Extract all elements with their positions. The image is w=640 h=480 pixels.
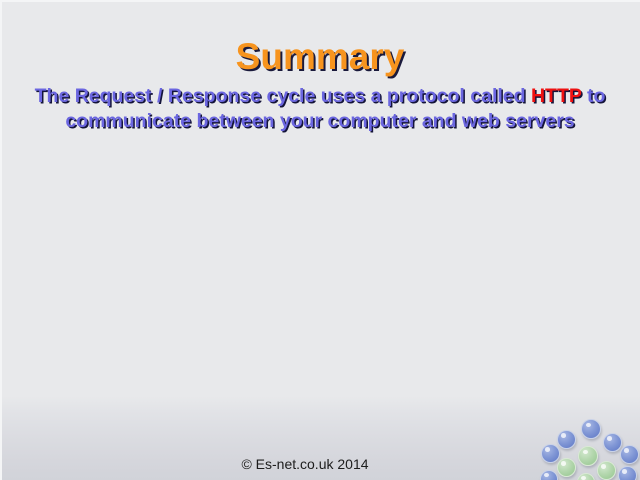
- sphere-blue-1: [557, 430, 576, 449]
- slide-subtitle: The Request / Response cycle uses a prot…: [0, 84, 640, 134]
- slide-title: Summary: [0, 36, 640, 78]
- sphere-blue-0: [581, 419, 601, 439]
- sphere-blue-8: [618, 466, 637, 480]
- subtitle-highlight-http: HTTP: [531, 85, 582, 107]
- sphere-blue-2: [603, 433, 622, 452]
- subtitle-text-part1: The Request / Response cycle uses a prot…: [35, 85, 531, 107]
- background-gradient-upper: [0, 300, 640, 400]
- sphere-blue-4: [620, 445, 639, 464]
- slide-footer-copyright: © Es-net.co.uk 2014: [0, 456, 610, 472]
- sphere-green-10: [577, 473, 595, 480]
- presentation-slide: Summary The Request / Response cycle use…: [0, 0, 640, 480]
